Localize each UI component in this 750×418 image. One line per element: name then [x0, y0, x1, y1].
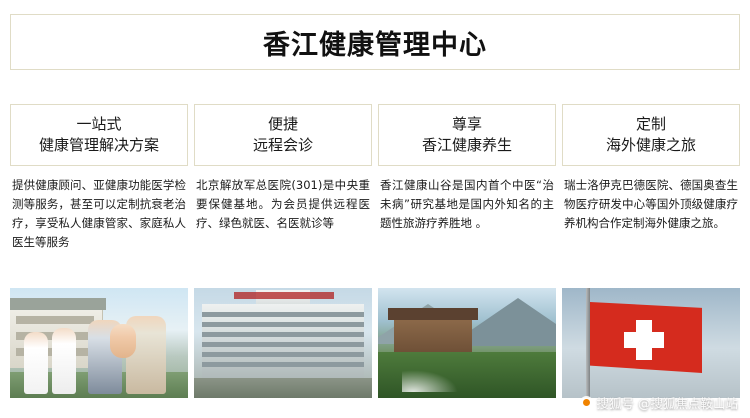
clinic-roof-shape [10, 298, 106, 310]
service-card-3-heading-line2: 香江健康养生 [422, 135, 512, 156]
service-card-4: 定制 海外健康之旅 瑞士洛伊克巴德医院、德国奥查生物医疗研发中心等国外顶级健康疗… [562, 104, 740, 252]
photo-row [10, 288, 740, 398]
service-card-2-heading-line2: 远程会诊 [253, 135, 313, 156]
photo-clinic-family [10, 288, 188, 398]
title-banner: 香江健康管理中心 [10, 14, 740, 70]
photo-swiss-flag [562, 288, 740, 398]
service-card-2-header: 便捷 远程会诊 [194, 104, 372, 166]
service-card-3-heading-line1: 尊享 [452, 114, 482, 135]
water-spray-shape [402, 370, 458, 392]
service-card-2-heading-line1: 便捷 [268, 114, 298, 135]
service-card-1-header: 一站式 健康管理解决方案 [10, 104, 188, 166]
flag-pole-shape [586, 288, 590, 398]
service-card-1-heading-line1: 一站式 [76, 114, 121, 135]
watermark-text: 搜狐号 @搜狐焦点鞍山站 [597, 393, 738, 412]
service-card-1-body: 提供健康顾问、亚健康功能医学检测等服务，甚至可以定制抗衰老治疗，享受私人健康管家… [10, 176, 188, 252]
service-card-1-heading-line2: 健康管理解决方案 [39, 135, 159, 156]
service-card-4-heading-line1: 定制 [636, 114, 666, 135]
service-card-3-header: 尊享 香江健康养生 [378, 104, 556, 166]
service-card-4-header: 定制 海外健康之旅 [562, 104, 740, 166]
service-card-2-body: 北京解放军总医院(301)是中央重要保健基地。为会员提供远程医疗、绿色就医、名医… [194, 176, 372, 233]
photo-resort-valley [378, 288, 556, 398]
service-cards: 一站式 健康管理解决方案 提供健康顾问、亚健康功能医学检测等服务，甚至可以定制抗… [10, 104, 740, 252]
hospital-building-shape [202, 304, 364, 380]
child-figure [110, 324, 136, 358]
hospital-sign-shape [234, 292, 334, 299]
service-card-3: 尊享 香江健康养生 香江健康山谷是国内首个中医“治未病”研究基地是国内外知名的主… [378, 104, 556, 252]
nurse-figure-2 [52, 328, 76, 394]
service-card-4-body: 瑞士洛伊克巴德医院、德国奥查生物医疗研发中心等国外顶级健康疗养机构合作定制海外健… [562, 176, 740, 233]
resort-lodge-shape [394, 318, 472, 354]
service-card-3-body: 香江健康山谷是国内首个中医“治未病”研究基地是国内外知名的主题性旅游疗养胜地 。 [378, 176, 556, 233]
flag-cross-horizontal [624, 332, 664, 348]
sohu-logo-icon [580, 396, 593, 409]
page-title: 香江健康管理中心 [263, 23, 487, 62]
page-root: 香江健康管理中心 一站式 健康管理解决方案 提供健康顾问、亚健康功能医学检测等服… [0, 0, 750, 418]
hospital-ground-shape [194, 378, 372, 398]
service-card-1: 一站式 健康管理解决方案 提供健康顾问、亚健康功能医学检测等服务，甚至可以定制抗… [10, 104, 188, 252]
service-card-2: 便捷 远程会诊 北京解放军总医院(301)是中央重要保健基地。为会员提供远程医疗… [194, 104, 372, 252]
photo-hospital [194, 288, 372, 398]
service-card-4-heading-line2: 海外健康之旅 [606, 135, 696, 156]
watermark: 搜狐号 @搜狐焦点鞍山站 [580, 393, 738, 412]
nurse-figure-1 [24, 332, 48, 394]
